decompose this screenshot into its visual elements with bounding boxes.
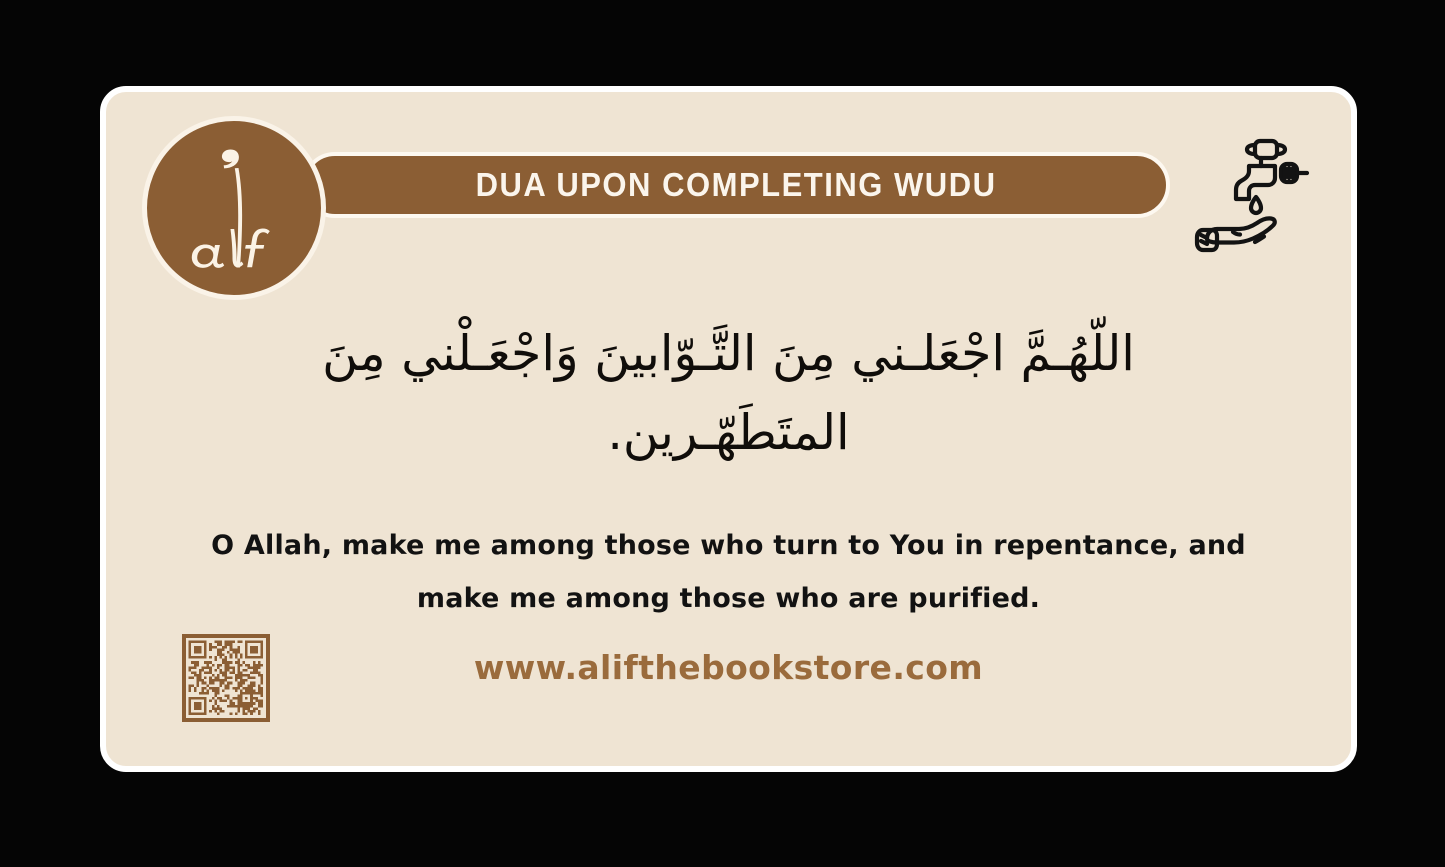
translation: O Allah, make me among those who turn to… bbox=[172, 520, 1285, 625]
arabic-dua: اللّهُـمَّ اجْعَلـني مِنَ التَّـوّابينَ … bbox=[158, 314, 1299, 473]
logo-alif-mark bbox=[142, 116, 326, 300]
page-background: DUA UPON COMPLETING WUDU bbox=[0, 0, 1445, 867]
title-banner: DUA UPON COMPLETING WUDU bbox=[302, 152, 1170, 218]
card-footer: www.alifthebookstore.com bbox=[106, 634, 1351, 744]
alif-logo[interactable] bbox=[142, 116, 326, 300]
translation-line-1: O Allah, make me among those who turn to… bbox=[172, 520, 1285, 573]
faucet-handwash-icon bbox=[1193, 132, 1325, 264]
translation-line-2: make me among those who are purified. bbox=[172, 573, 1285, 626]
page-title: DUA UPON COMPLETING WUDU bbox=[476, 166, 997, 204]
website-url[interactable]: www.alifthebookstore.com bbox=[106, 648, 1351, 687]
arabic-line-2: المتَطَهّـرين. bbox=[158, 393, 1299, 472]
card-header: DUA UPON COMPLETING WUDU bbox=[106, 92, 1351, 307]
dua-card: DUA UPON COMPLETING WUDU bbox=[100, 86, 1357, 772]
arabic-line-1: اللّهُـمَّ اجْعَلـني مِنَ التَّـوّابينَ … bbox=[158, 314, 1299, 393]
